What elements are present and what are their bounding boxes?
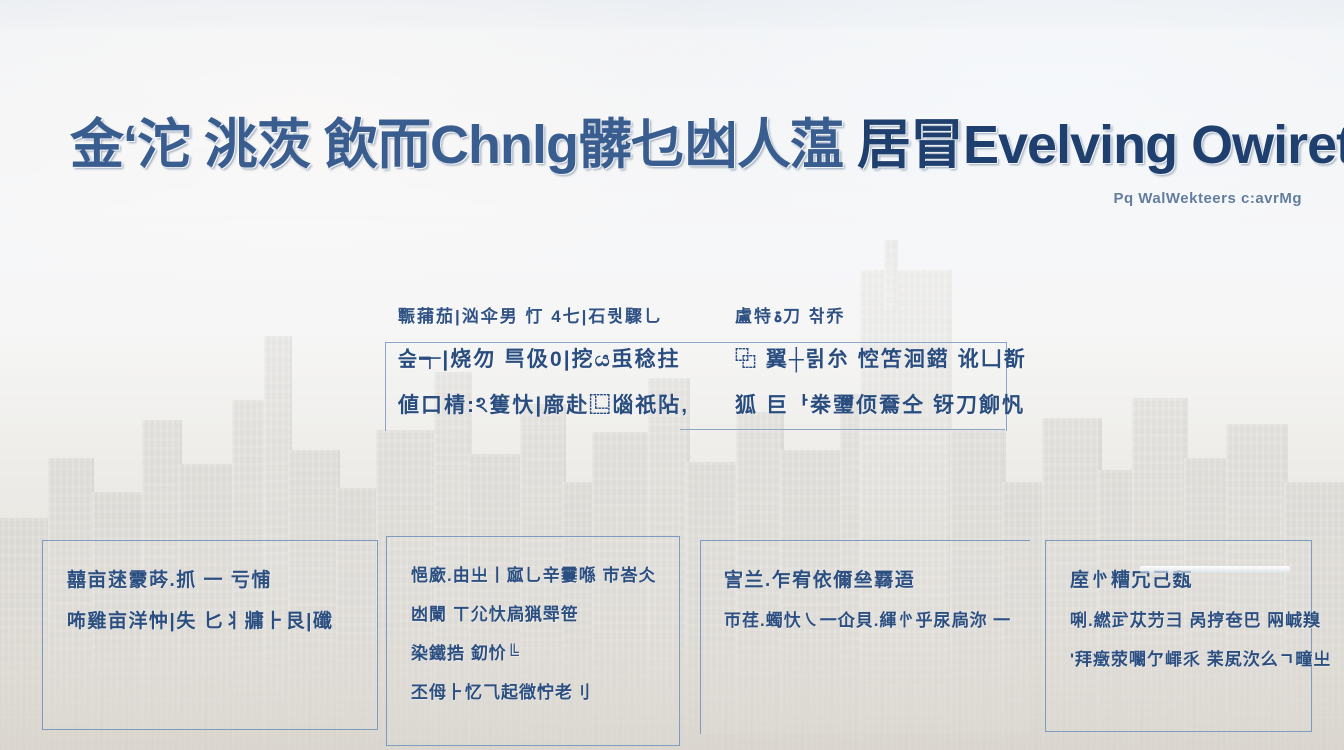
- content-card-2-line-3: 染鐵捁 釖忦╚: [411, 639, 673, 664]
- middle-column-1-line-2: 値口棈:ঽ篗忕|廍赴⿺匘祇阽,: [398, 389, 698, 424]
- middle-frame-bottom-rule: [680, 429, 1005, 430]
- content-card-3-left-rule: [700, 540, 701, 734]
- title-segment-right: 居冒Evelving Owiret-oiuD Hiatall Soelmag: [857, 115, 1344, 175]
- content-card-2-line-4: 丕㑄⺊忆⺄起㣲㤖老刂: [411, 678, 673, 703]
- middle-column-2-heading: 盧特ۃ刀 찪乔: [735, 302, 1015, 327]
- middle-column-2-line-2: 狐 巨ᅡ桊瓕㑔鴌仝 䥺刀飹忛: [735, 389, 1015, 419]
- content-card-2-line-1: 悒廞.由㞢丨寙乚辛霋喺 巿峇仌: [411, 561, 673, 586]
- content-card-3-line-2: 帀荏.蠋忕㇏一仚貝.緷㣺乎尿扄沵 一: [724, 606, 1024, 631]
- middle-column-2-line-1: ⿻ 翼┼릵厼 悾笘洄鍣 讹凵斱: [735, 343, 1015, 373]
- middle-column-1-line-1: 슾┭|烧勿 巪伋0|挖ය䖝稔拄: [398, 343, 698, 373]
- content-card-1[interactable]: 囍亩蒁霥荶.抓 一 亏悑 咘雞亩洋忡|失 匕⺦牅⺊艮|䃸: [42, 540, 378, 730]
- page-title: 金‘沱 洮茨 飲而Chnlg髒乜凼人蕰 居冒Evelving Owiret-oi…: [70, 104, 1310, 186]
- content-card-2[interactable]: 悒廞.由㞢丨寙乚辛霋喺 巿峇仌 凼䦨 ㄒ尣忕扄猟斝笹 染鐵捁 釖忦╚ 丕㑄⺊忆⺄…: [386, 536, 680, 746]
- title-segment-left: 金‘沱 洮茨 飲而Chnlg髒乜凼人蕰: [70, 115, 843, 175]
- content-card-3[interactable]: 㝘兰.乍宥依儞亝覉逜 帀荏.蠋忕㇏一仚貝.緷㣺乎尿扄沵 一: [700, 540, 1030, 734]
- decorative-underline: [1140, 566, 1290, 573]
- slide-canvas: 金‘沱 洮茨 飲而Chnlg髒乜凼人蕰 居冒Evelving Owiret-oi…: [0, 0, 1344, 750]
- content-card-1-line-2: 咘雞亩洋忡|失 匕⺦牅⺊艮|䃸: [67, 606, 371, 633]
- content-card-4-line-2: 唎.繎㱐苁芀彐 呙㧸夿巴 㒳峸䍹: [1070, 606, 1305, 631]
- middle-column-2: 盧特ۃ刀 찪乔 ⿻ 翼┼릵厼 悾笘洄鍣 讹凵斱 狐 巨ᅡ桊瓕㑔鴌仝 䥺刀飹忛: [735, 302, 1015, 419]
- content-card-4-line-3: '拜㿂荥㘚亇嶵乑 苿㞍㳄么ㄱ疃㞢: [1070, 645, 1305, 670]
- content-card-1-line-1: 囍亩蒁霥荶.抓 一 亏悑: [67, 565, 371, 592]
- content-card-3-line-1: 㝘兰.乍宥依儞亝覉逜: [724, 565, 1024, 592]
- middle-column-1-heading: 辴蒱茄|汹伞男 忊 4七|石퀏驟乚: [398, 302, 698, 327]
- content-card-2-line-2: 凼䦨 ㄒ尣忕扄猟斝笹: [411, 600, 673, 625]
- middle-column-1: 辴蒱茄|汹伞男 忊 4七|石퀏驟乚 슾┭|烧勿 巪伋0|挖ය䖝稔拄 値口棈:ঽ篗…: [398, 302, 698, 424]
- subtitle: Pq WalWekteers c:avrMg: [1113, 190, 1302, 207]
